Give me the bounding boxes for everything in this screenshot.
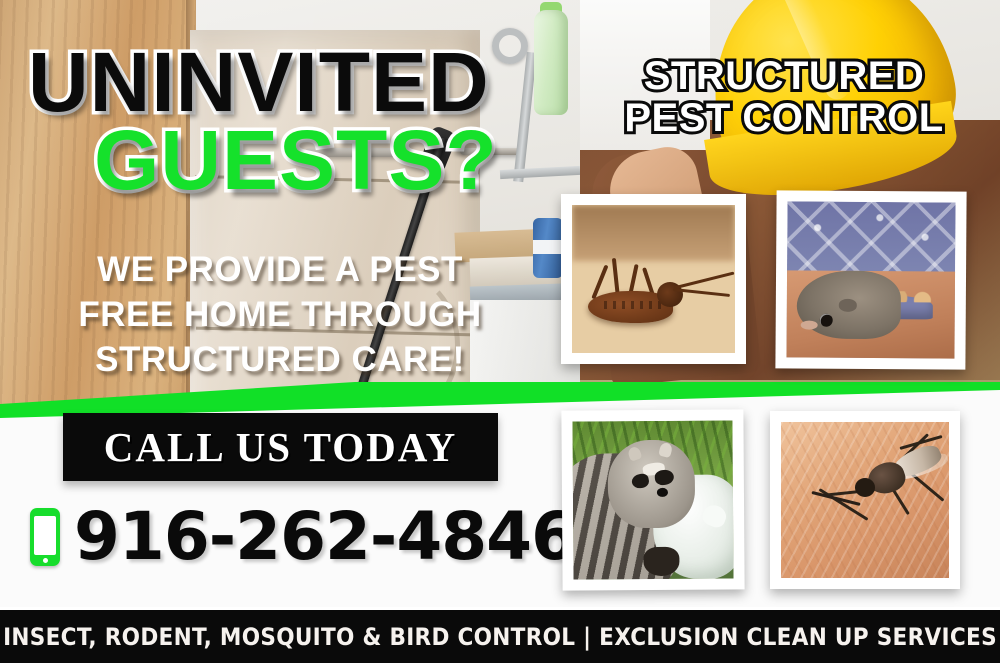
mosquito-photo	[770, 411, 960, 589]
raccoon-head	[608, 440, 695, 529]
garbage-bag-knot	[700, 502, 729, 530]
headline: UNINVITED GUESTS?	[28, 46, 568, 196]
headline-line-uninvited: UNINVITED	[28, 46, 568, 118]
raccoon-ear	[658, 442, 673, 459]
phone-row[interactable]: 916-262-4846	[30, 498, 576, 575]
raccoon-photo	[561, 409, 744, 590]
mouse-snout	[801, 321, 818, 330]
raccoon-paw	[644, 547, 679, 576]
mosquito-head	[855, 478, 875, 497]
pest-control-advertisement: UNINVITED GUESTS? WE PROVIDE A PEST FREE…	[0, 0, 1000, 663]
raccoon-nose	[656, 488, 667, 497]
company-name: STRUCTURED PEST CONTROL	[588, 56, 980, 139]
phone-number[interactable]: 916-262-4846	[74, 498, 576, 575]
smartphone-icon	[30, 508, 60, 566]
mouse-ear	[839, 299, 858, 311]
headline-line-guests: GUESTS?	[28, 124, 568, 196]
services-footer-text: INSECT, RODENT, MOSQUITO & BIRD CONTROL …	[3, 623, 997, 651]
mouse-eye	[820, 313, 833, 326]
raccoon-ear	[627, 446, 643, 462]
floor-blur	[572, 205, 735, 261]
cta-label: CALL US TODAY	[104, 423, 457, 471]
raccoon-eye-mask	[654, 469, 675, 486]
mouse-photo	[775, 190, 966, 369]
mosquito-photo-image	[781, 422, 949, 578]
services-footer-bar: INSECT, RODENT, MOSQUITO & BIRD CONTROL …	[0, 607, 1000, 663]
raccoon-photo-image	[572, 420, 733, 579]
call-us-today-banner[interactable]: CALL US TODAY	[63, 413, 498, 481]
company-name-line-2: PEST CONTROL	[588, 98, 980, 140]
mouse-head	[797, 270, 902, 339]
subheading: WE PROVIDE A PEST FREE HOME THROUGH STRU…	[30, 248, 530, 382]
roach-antenna	[674, 272, 735, 290]
cockroach-photo	[561, 194, 746, 364]
company-name-line-1: STRUCTURED	[588, 56, 980, 98]
subheading-line-1: WE PROVIDE A PEST	[30, 248, 530, 293]
cockroach-photo-image	[572, 205, 735, 353]
subheading-line-3: STRUCTURED CARE!	[30, 338, 530, 383]
mouse-photo-image	[786, 201, 955, 358]
subheading-line-2: FREE HOME THROUGH	[30, 293, 530, 338]
